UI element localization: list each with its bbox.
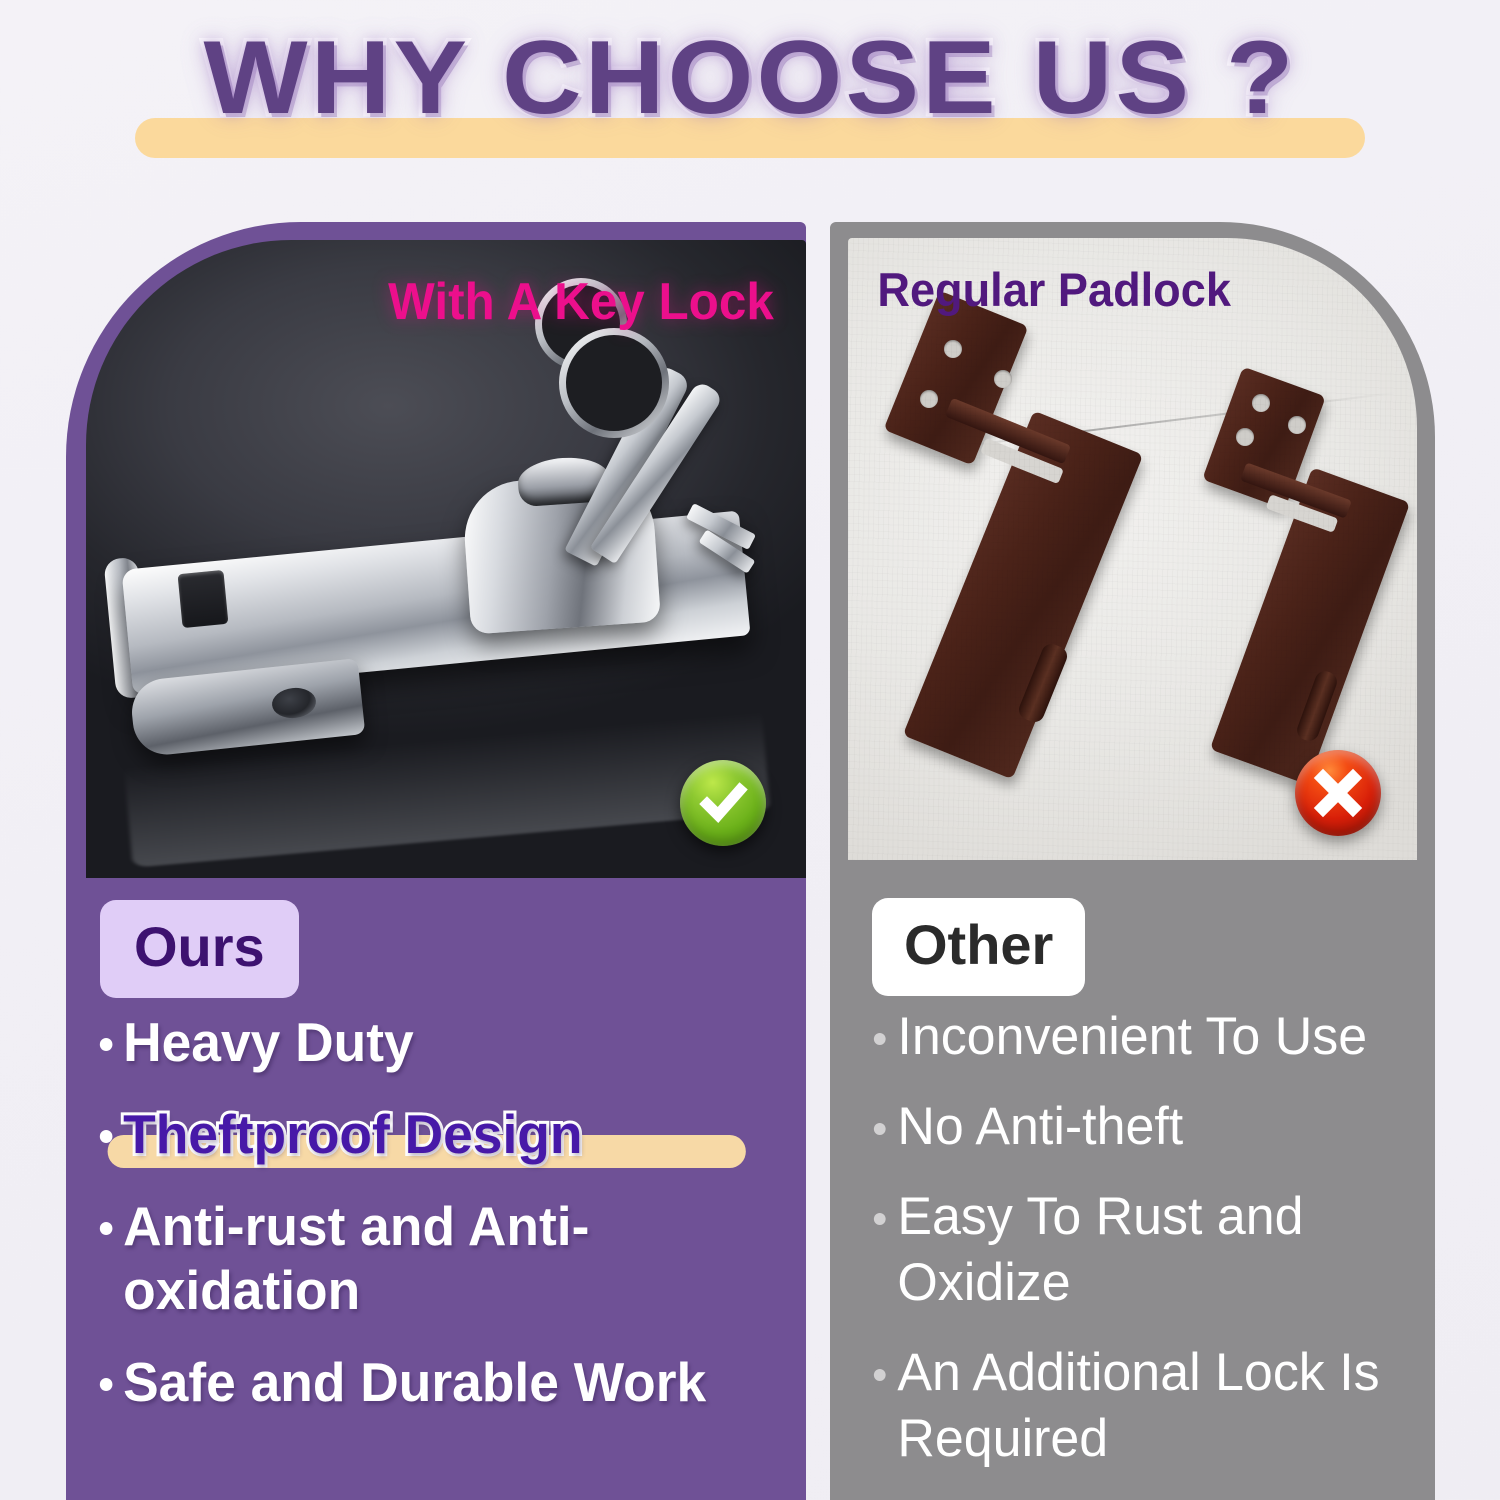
ours-bullet-text: Safe and Durable Work (123, 1351, 706, 1413)
list-item: No Anti-theft (868, 1094, 1409, 1160)
bullet-dot-icon (100, 1130, 113, 1143)
other-bullet-text: Inconvenient To Use (897, 1007, 1367, 1066)
list-item: Safe and Durable Work (94, 1350, 773, 1414)
list-item: Theftproof Design (94, 1102, 773, 1166)
other-bullet-text: No Anti-theft (897, 1097, 1183, 1156)
ours-bullet-text-highlight: Theftproof Design (123, 1103, 582, 1165)
ours-product-photo: With A Key Lock (86, 240, 806, 878)
screw-hole-icon (994, 370, 1012, 388)
bullet-dot-icon (874, 1213, 886, 1225)
list-item: Easy To Rust and Oxidize (868, 1184, 1409, 1316)
screw-hole-icon (1252, 394, 1270, 412)
ours-bullet-text: Anti-rust and Anti-oxidation (123, 1195, 589, 1321)
bullet-dot-icon (100, 1038, 113, 1051)
bullet-dot-icon (874, 1369, 886, 1381)
list-item: An Additional Lock Is Required (868, 1340, 1409, 1472)
bullet-dot-icon (100, 1378, 113, 1391)
other-drawback-list: Inconvenient To Use No Anti-theft Easy T… (868, 1004, 1420, 1496)
ours-bullet-text: Heavy Duty (123, 1011, 414, 1073)
screw-hole-icon (944, 340, 962, 358)
bullet-dot-icon (874, 1123, 886, 1135)
page-title: WHY CHOOSE US ? (0, 26, 1500, 130)
cross-circle-icon (1295, 750, 1381, 836)
hasp-plate-notch (178, 570, 229, 628)
list-item: Anti-rust and Anti-oxidation (94, 1194, 773, 1322)
screw-hole-icon (1288, 416, 1306, 434)
ours-photo-label: With A Key Lock (388, 272, 774, 332)
other-bullet-text: An Additional Lock Is Required (897, 1343, 1379, 1468)
ours-feature-list: Heavy Duty Theftproof Design Anti-rust a… (94, 1010, 794, 1442)
bullet-dot-icon (874, 1033, 886, 1045)
screw-hole-icon (920, 390, 938, 408)
list-item: Heavy Duty (94, 1010, 773, 1074)
ours-badge: Ours (100, 900, 299, 998)
check-circle-icon (680, 760, 766, 846)
other-photo-label: Regular Padlock (877, 262, 1231, 317)
page-header: WHY CHOOSE US ? (0, 0, 1500, 200)
list-item: Inconvenient To Use (868, 1004, 1409, 1070)
other-badge: Other (872, 898, 1085, 996)
bullet-dot-icon (100, 1222, 113, 1235)
other-product-photo: Regular Padlock (848, 238, 1417, 860)
other-panel: Regular Padlock Other Inconvenient To Us… (830, 222, 1435, 1500)
keyring-two (559, 328, 669, 438)
screw-hole-icon (1236, 428, 1254, 446)
other-bullet-text: Easy To Rust and Oxidize (897, 1187, 1303, 1312)
ours-panel: With A Key Lock Ours Heavy Duty Theftpro… (66, 222, 806, 1500)
